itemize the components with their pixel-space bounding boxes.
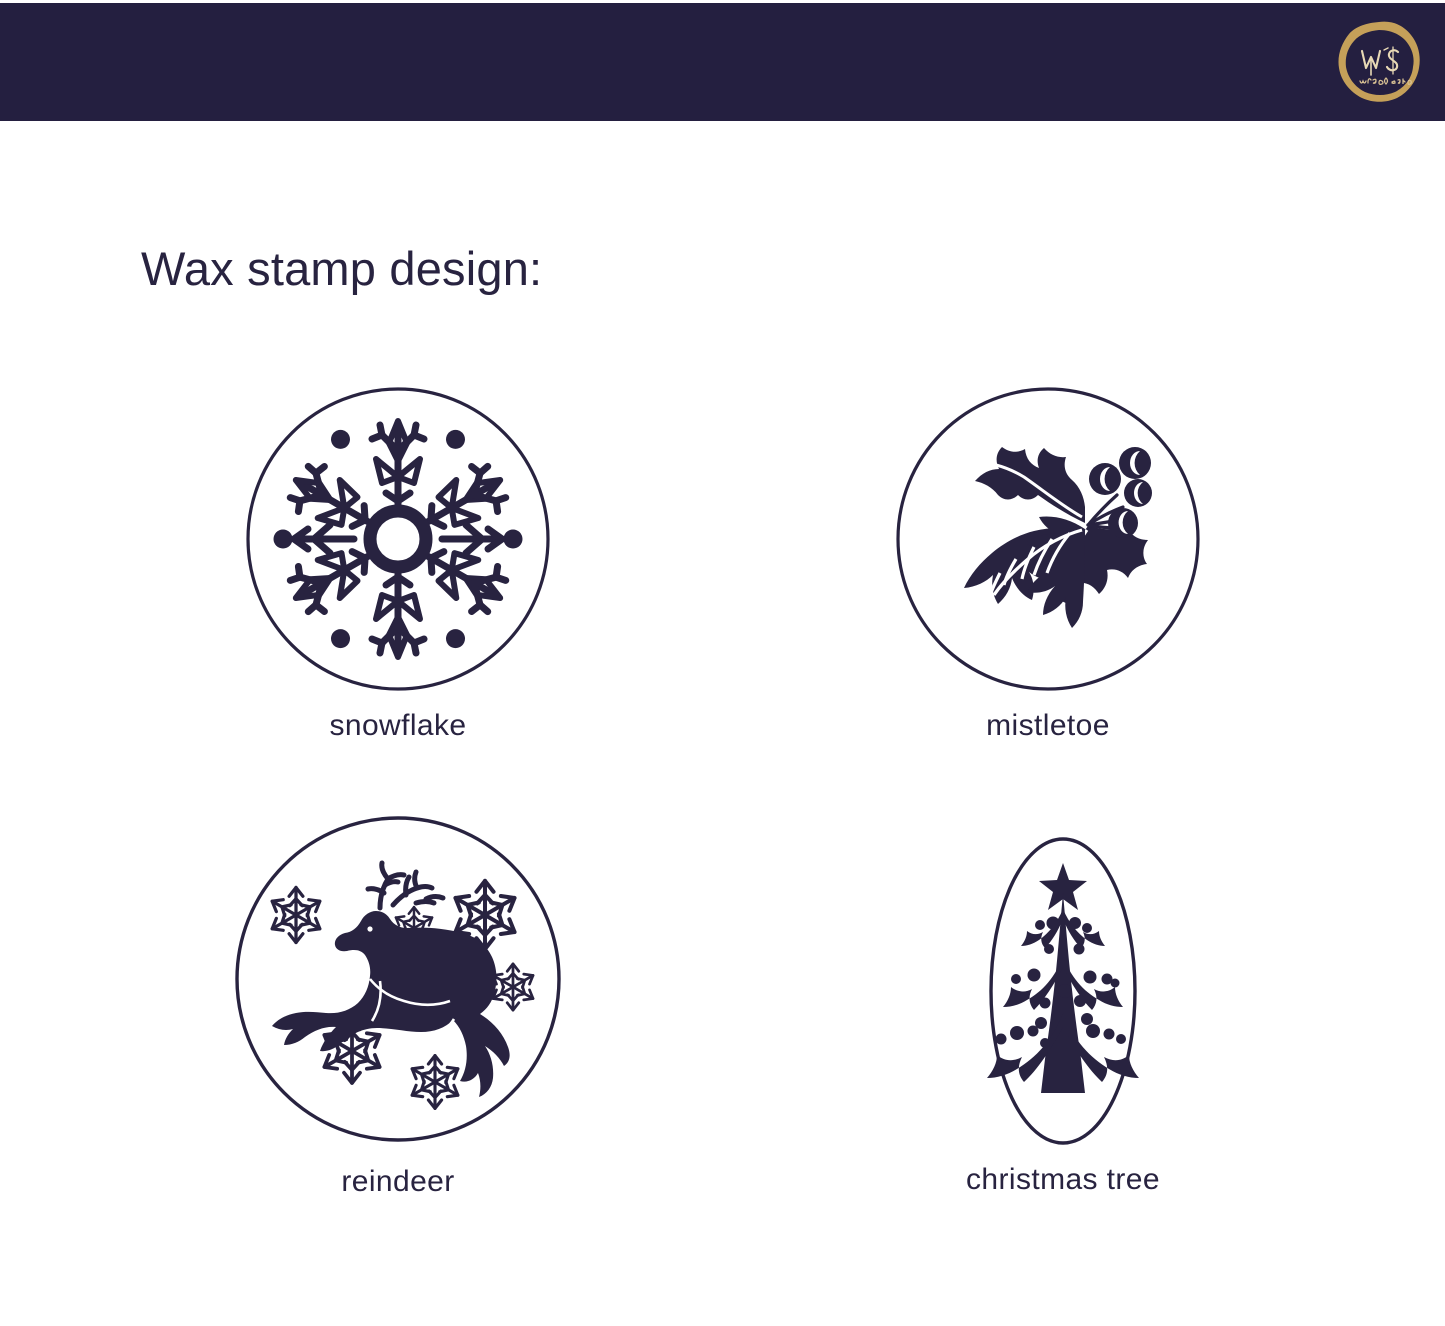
stamp-card-christmas-tree[interactable]: christmas tree [853, 831, 1273, 1197]
stamp-label-christmas-tree: christmas tree [853, 1163, 1273, 1197]
stamp-label-reindeer: reindeer [178, 1165, 618, 1199]
snowflake-icon [242, 383, 554, 695]
stamp-card-reindeer[interactable]: reindeer [178, 811, 618, 1199]
page-body: Wax stamp design: [0, 121, 1445, 1326]
stamp-card-snowflake[interactable]: snowflake [188, 383, 608, 743]
mistletoe-icon [892, 383, 1204, 695]
header-band [0, 3, 1445, 121]
stamp-grid: snowflake [0, 121, 1445, 1326]
christmas-tree-icon [983, 831, 1143, 1151]
wax-seal-logo [1335, 17, 1423, 105]
stamp-label-snowflake: snowflake [188, 709, 608, 743]
stamp-card-mistletoe[interactable]: mistletoe [838, 383, 1258, 743]
reindeer-icon [230, 811, 566, 1147]
stamp-label-mistletoe: mistletoe [838, 709, 1258, 743]
